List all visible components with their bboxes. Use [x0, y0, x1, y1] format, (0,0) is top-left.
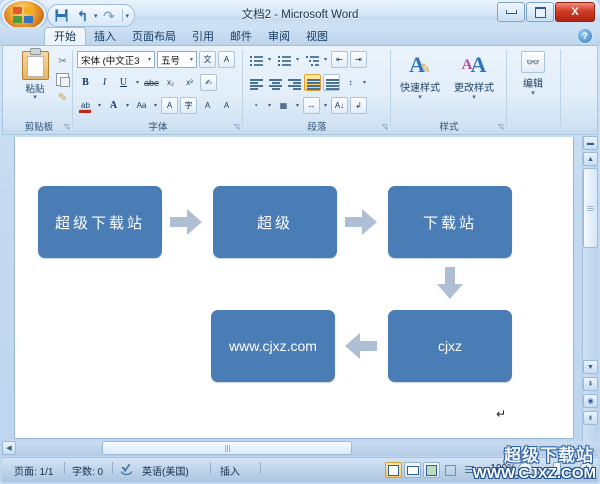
underline-dropdown[interactable]: ▾ [134, 79, 141, 86]
tab-insert[interactable]: 插入 [86, 28, 124, 46]
flowchart-node-4[interactable]: cjxz [388, 310, 512, 382]
zoom-out-button[interactable]: − [518, 462, 533, 477]
save-button[interactable] [52, 7, 71, 25]
redo-icon: ↷ [103, 9, 115, 23]
bold-icon: B [82, 77, 89, 88]
show-formatting-marks-button[interactable]: ↔ [303, 97, 320, 114]
quick-styles-button[interactable]: A✎ 快速样式 ▾ [393, 51, 447, 101]
office-button[interactable] [4, 1, 44, 29]
phonetic-icon: 文 [204, 54, 212, 65]
borders-button[interactable]: ▦ [275, 97, 292, 114]
font-dialog-launcher[interactable]: ◹ [232, 123, 241, 132]
node-label: 超级 [257, 212, 293, 233]
group-divider [560, 50, 561, 126]
change-case-dropdown[interactable]: ▾ [152, 102, 159, 109]
multilevel-list-button[interactable] [303, 51, 320, 68]
grow-font-button[interactable]: A [199, 97, 216, 114]
grow-font-icon: A [205, 101, 210, 110]
decrease-indent-icon: ⇤ [336, 55, 343, 64]
highlight-dropdown[interactable]: ▾ [96, 102, 103, 109]
bullets-dropdown[interactable]: ▾ [266, 56, 273, 63]
bullets-button[interactable] [247, 51, 264, 68]
bold-button[interactable]: B [77, 74, 94, 91]
paintbrush-icon: ✎ [58, 91, 67, 104]
font-name-value: 宋体 (中文正3 [81, 53, 140, 67]
status-language[interactable]: 英语(美国) [142, 463, 189, 478]
ribbon-group-styles: A✎ 快速样式 ▾ AA 更改样式 ▾ 样式 ◹ [391, 47, 507, 134]
copy-icon [56, 73, 69, 86]
enclose-characters-button[interactable]: 字 [180, 97, 197, 114]
vertical-scroll-thumb[interactable] [583, 168, 598, 248]
paint-bucket-icon: ◔ [253, 101, 258, 110]
cut-button[interactable]: ✂ [55, 53, 70, 69]
change-styles-label: 更改样式 [447, 79, 501, 94]
editing-button[interactable]: 👓 编辑 ▾ [513, 51, 553, 97]
close-icon: X [571, 6, 578, 18]
draft-icon [465, 466, 474, 475]
document-area: 超级下载站 超级 下载站 [2, 136, 598, 441]
underline-icon: U [120, 77, 127, 88]
change-styles-icon: AA [447, 51, 501, 77]
horizontal-scroll-thumb[interactable] [102, 441, 352, 455]
view-web-layout-button[interactable] [423, 462, 440, 478]
increase-indent-icon: ⇥ [355, 55, 362, 64]
quick-styles-caret[interactable]: ▾ [393, 94, 447, 101]
zoom-thumb[interactable] [553, 462, 561, 478]
status-divider [112, 462, 113, 474]
strikethrough-icon: abe [144, 78, 159, 88]
web-layout-icon [426, 465, 437, 476]
save-icon [55, 9, 68, 22]
view-full-screen-reading-button[interactable] [404, 462, 421, 478]
italic-icon: I [103, 77, 106, 88]
qat-divider [122, 9, 123, 22]
title-bar: ↰ ▾ ↷ ▾ 文档2 - Microsoft Word X [0, 0, 600, 30]
show-marks-dropdown[interactable]: ▾ [322, 102, 329, 109]
minimize-icon [506, 10, 517, 14]
shrink-font-button[interactable]: A [218, 97, 235, 114]
ribbon-group-font: 宋体 (中文正3 ▾ 五号 ▾ 文 A B I U ▾ abe x₂ x² ✍ [73, 47, 243, 134]
vertical-scrollbar[interactable]: ▬ ▲ ▼ ⇞ ◉ ⇟ [582, 136, 598, 441]
close-button[interactable]: X [555, 2, 595, 22]
minimize-button[interactable] [497, 2, 525, 22]
help-icon[interactable]: ? [578, 29, 592, 43]
outline-icon [445, 465, 456, 476]
paste-icon [22, 51, 49, 80]
status-divider [64, 462, 65, 474]
align-left-button[interactable] [247, 74, 264, 91]
flowchart-node-5[interactable]: www.cjxz.com [211, 310, 335, 382]
tab-review[interactable]: 审阅 [260, 28, 298, 46]
paragraph-mark: ↵ [496, 407, 506, 421]
chevron-down-icon[interactable]: ▾ [188, 56, 195, 63]
document-page[interactable]: 超级下载站 超级 下载站 [14, 137, 574, 439]
status-bar: 页面: 1/1 字数: 0 英语(美国) 插入 100% − + [2, 457, 598, 482]
paste-dropdown-caret[interactable]: ▾ [15, 95, 55, 101]
reading-view-icon [407, 466, 419, 475]
font-color-icon: A [110, 100, 117, 111]
view-outline-button[interactable] [442, 462, 459, 478]
char-border-icon: A [224, 55, 229, 64]
paste-label: 粘贴 [15, 81, 55, 95]
eraser-icon: ✍ [205, 78, 212, 87]
view-buttons [385, 462, 478, 478]
borders-icon: ▦ [280, 101, 288, 110]
flowchart-node-1[interactable]: 超级下载站 [38, 186, 162, 258]
word-window: ↰ ▾ ↷ ▾ 文档2 - Microsoft Word X 开始 插入 页面布… [0, 0, 600, 484]
line-spacing-dropdown[interactable]: ▾ [361, 79, 368, 86]
scroll-down-button[interactable]: ▼ [583, 360, 598, 374]
font-size-input[interactable]: 五号 ▾ [157, 51, 197, 68]
tab-page-layout[interactable]: 页面布局 [124, 28, 184, 46]
superscript-icon: x² [186, 78, 193, 87]
align-justify-button[interactable] [304, 74, 321, 91]
font-color-dropdown[interactable]: ▾ [124, 102, 131, 109]
distribute-button[interactable] [323, 74, 340, 91]
grip-icon [225, 445, 230, 452]
editing-label: 编辑 [513, 75, 553, 90]
paragraph-dialog-launcher[interactable]: ◹ [380, 123, 389, 132]
change-case-icon: Aa [137, 101, 147, 110]
copy-button[interactable] [55, 71, 70, 87]
font-color-swatch [79, 110, 91, 113]
character-border-button[interactable]: A [218, 51, 235, 68]
ribbon: 粘贴 ▾ ✂ ✎ 剪贴板 ◹ 宋体 (中文正3 ▾ 五号 ▾ [2, 45, 598, 135]
window-controls: X [497, 2, 595, 22]
styles-dialog-launcher[interactable]: ◹ [496, 123, 505, 132]
zoom-in-button[interactable]: + [579, 462, 594, 477]
flowchart-node-3[interactable]: 下载站 [388, 186, 512, 258]
clipboard-dialog-launcher[interactable]: ◹ [62, 123, 71, 132]
scroll-left-button[interactable]: ◀ [2, 441, 16, 455]
change-styles-caret[interactable]: ▾ [447, 94, 501, 101]
quick-access-toolbar: ↰ ▾ ↷ ▾ [47, 4, 135, 27]
scissors-icon: ✂ [58, 56, 66, 67]
font-name-input[interactable]: 宋体 (中文正3 ▾ [77, 51, 155, 68]
node-label: www.cjxz.com [229, 338, 317, 354]
pilcrow-icon: ↔ [308, 101, 316, 110]
view-print-layout-button[interactable] [385, 462, 402, 478]
clipboard-small-buttons: ✂ ✎ [55, 53, 71, 107]
increase-indent-button[interactable]: ⇥ [350, 51, 367, 68]
node-label: 下载站 [423, 212, 477, 233]
multilevel-dropdown[interactable]: ▾ [322, 56, 329, 63]
ribbon-group-paragraph: ▾ ▾ ▾ ⇤ ⇥ [243, 47, 391, 134]
scroll-up-button[interactable]: ▲ [583, 152, 598, 166]
status-divider [210, 462, 211, 474]
underline-button[interactable]: U [115, 74, 132, 91]
sort-icon: A↓ [335, 101, 344, 110]
numbering-button[interactable] [275, 51, 292, 68]
status-divider [260, 462, 261, 474]
font-size-value: 五号 [161, 53, 180, 67]
paragraph-shading-button[interactable]: ◔ [247, 97, 264, 114]
binoculars-icon: 👓 [521, 51, 545, 73]
redo-button[interactable]: ↷ [100, 7, 119, 25]
font-color-button[interactable]: A [105, 97, 122, 114]
strikethrough-button[interactable]: abe [143, 74, 160, 91]
zoom-slider[interactable]: − + [518, 461, 594, 477]
quick-styles-label: 快速样式 [393, 79, 447, 94]
sort-button[interactable]: A↓ [331, 97, 348, 114]
text-direction-icon: ↲ [355, 101, 362, 110]
line-spacing-button[interactable]: ↕ [342, 74, 359, 91]
paragraph-shading-dropdown[interactable]: ▾ [266, 102, 273, 109]
connector-arrow-down [437, 267, 463, 299]
group-label-font: 字体 [73, 119, 243, 133]
maximize-icon [535, 7, 546, 18]
superscript-button[interactable]: x² [181, 74, 198, 91]
clear-formatting-button[interactable]: ✍ [200, 74, 217, 91]
flowchart-node-2[interactable]: 超级 [213, 186, 337, 258]
customize-qat-button[interactable]: ▾ [126, 12, 130, 20]
node-label: cjxz [438, 338, 462, 354]
line-break-button[interactable]: ↲ [350, 97, 367, 114]
editing-caret[interactable]: ▾ [513, 90, 553, 97]
chevron-down-icon[interactable]: ▾ [146, 56, 153, 63]
align-center-button[interactable] [266, 74, 283, 91]
ribbon-group-clipboard: 粘贴 ▾ ✂ ✎ 剪贴板 ◹ [5, 47, 73, 134]
status-page[interactable]: 页面: 1/1 [14, 463, 53, 478]
group-label-styles: 样式 [391, 119, 507, 133]
phonetic-guide-button[interactable]: 文 [199, 51, 216, 68]
print-layout-icon [388, 465, 399, 476]
numbering-dropdown[interactable]: ▾ [294, 56, 301, 63]
tab-view[interactable]: 视图 [298, 28, 336, 46]
tab-mailings[interactable]: 邮件 [222, 28, 260, 46]
circle-char-icon: 字 [185, 100, 193, 111]
tab-home[interactable]: 开始 [44, 27, 86, 47]
subscript-button[interactable]: x₂ [162, 74, 179, 91]
tab-references[interactable]: 引用 [184, 28, 222, 46]
subscript-icon: x₂ [167, 78, 174, 87]
connector-arrow-right-2 [345, 209, 377, 235]
ribbon-tabs: 开始 插入 页面布局 引用 邮件 审阅 视图 [44, 27, 336, 46]
connector-arrow-left [345, 333, 377, 359]
connector-arrow-right-1 [170, 209, 202, 235]
undo-dropdown[interactable]: ▾ [94, 12, 98, 20]
node-label: 超级下载站 [55, 212, 145, 233]
status-words[interactable]: 字数: 0 [72, 463, 103, 478]
undo-button[interactable]: ↰ [73, 7, 92, 25]
text-shading-button[interactable]: A [161, 97, 178, 114]
ribbon-tab-strip: 开始 插入 页面布局 引用 邮件 审阅 视图 ? [0, 27, 600, 46]
undo-icon: ↰ [77, 9, 89, 23]
status-insert-mode[interactable]: 插入 [220, 463, 240, 478]
view-draft-button[interactable] [461, 462, 478, 478]
next-page-button[interactable]: ⇟ [583, 411, 598, 425]
italic-button[interactable]: I [96, 74, 113, 91]
spellcheck-icon[interactable] [120, 462, 134, 476]
change-case-button[interactable]: Aa [133, 97, 150, 114]
office-logo-icon [13, 7, 34, 23]
line-spacing-icon: ↕ [349, 78, 353, 87]
previous-page-button[interactable]: ⇞ [583, 377, 598, 391]
horizontal-scrollbar[interactable]: ◀ [2, 441, 598, 456]
shrink-font-icon: A [224, 101, 229, 110]
group-label-paragraph: 段落 [243, 119, 391, 133]
split-window-button[interactable]: ▬ [583, 136, 598, 150]
align-right-button[interactable] [285, 74, 302, 91]
grip-icon [587, 206, 594, 211]
maximize-button[interactable] [526, 2, 554, 22]
decrease-indent-button[interactable]: ⇤ [331, 51, 348, 68]
select-browse-object-button[interactable]: ◉ [583, 394, 598, 408]
paste-button[interactable]: 粘贴 ▾ [15, 51, 55, 101]
quick-styles-icon: A✎ [393, 51, 447, 77]
borders-dropdown[interactable]: ▾ [294, 102, 301, 109]
change-styles-button[interactable]: AA 更改样式 ▾ [447, 51, 501, 101]
format-painter-button[interactable]: ✎ [55, 89, 70, 105]
ribbon-group-editing: 👓 编辑 ▾ [507, 47, 561, 134]
zoom-level-label[interactable]: 100% [490, 463, 516, 474]
shading-icon: A [167, 101, 172, 110]
